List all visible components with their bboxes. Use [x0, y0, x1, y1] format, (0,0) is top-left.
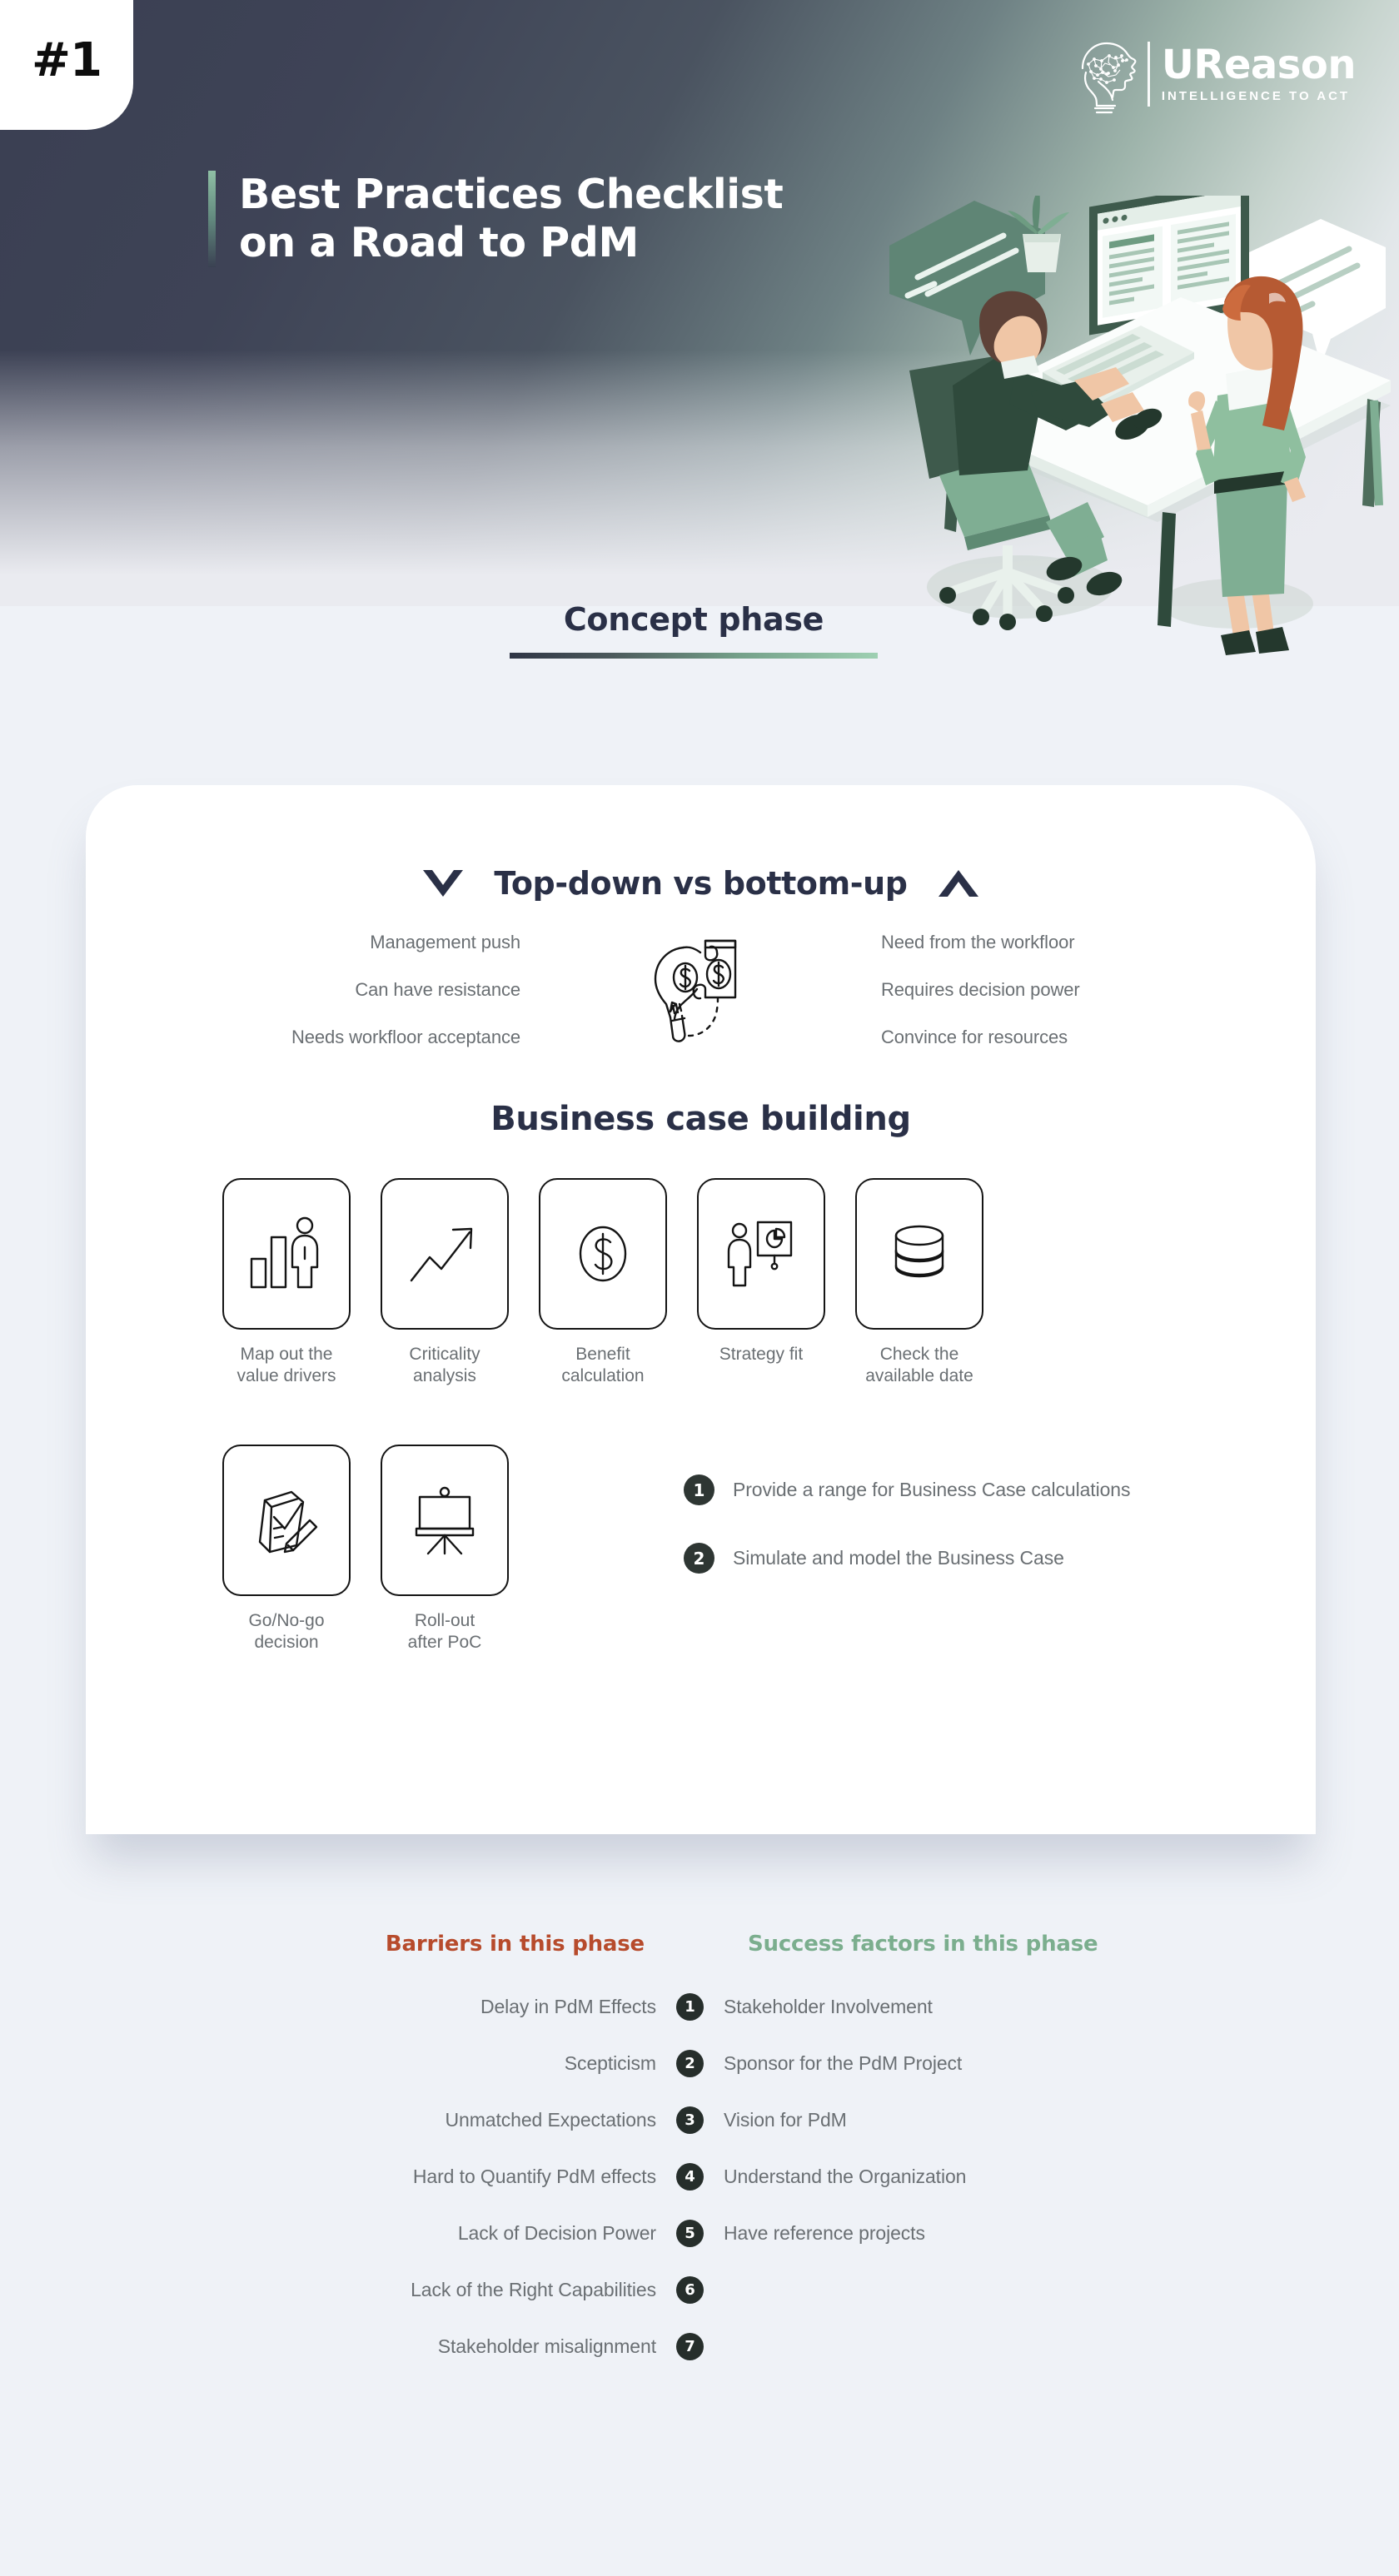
chevron-up-icon [936, 867, 981, 900]
header-title-block: Best Practices Checklist on a Road to Pd… [208, 171, 783, 267]
success-text: Have reference projects [704, 2222, 1380, 2245]
top-down-right-list: Need from the workfloor Requires decisio… [849, 932, 1316, 1048]
presenter-pie-chart-icon [697, 1178, 825, 1330]
table-row: Unmatched Expectations 3 Vision for PdM [0, 2103, 1399, 2136]
list-item: Can have resistance [355, 979, 520, 1001]
barriers-success-rows: Delay in PdM Effects 1 Stakeholder Invol… [0, 1990, 1399, 2363]
icon-label: Benefit calculation [561, 1344, 644, 1388]
concept-phase-title: Concept phase [510, 601, 878, 638]
top-down-columns: Management push Can have resistance Need… [86, 932, 1316, 1048]
number-badge: 1 [684, 1474, 714, 1505]
number-badge: 6 [676, 2276, 704, 2304]
number-badge: 4 [676, 2163, 704, 2191]
icon-label: Criticality analysis [409, 1344, 480, 1388]
number-badge: 5 [676, 2220, 704, 2247]
icon-label: Go/No-go decision [248, 1610, 324, 1654]
trending-up-arrow-icon [381, 1178, 509, 1330]
barrier-text: Stakeholder misalignment [0, 2335, 676, 2358]
business-case-title: Business case building [86, 1100, 1316, 1138]
flipchart-easel-icon [381, 1445, 509, 1596]
page-title: Best Practices Checklist on a Road to Pd… [239, 171, 783, 267]
concept-phase-rule [510, 653, 878, 659]
icon-card-check-available-date[interactable]: Check the available date [855, 1178, 983, 1388]
dollar-coin-icon [539, 1178, 667, 1330]
barrier-text: Hard to Quantify PdM effects [0, 2166, 676, 2188]
chevron-down-icon [421, 867, 466, 900]
icon-label: Check the available date [865, 1344, 973, 1388]
table-row: Hard to Quantify PdM effects 4 Understan… [0, 2160, 1399, 2193]
number-badge: 2 [684, 1543, 714, 1574]
issue-number-label: #1 [32, 33, 102, 87]
number-badge: 1 [676, 1993, 704, 2021]
checklist-pencil-icon [222, 1445, 351, 1596]
success-text: Vision for PdM [704, 2109, 1380, 2131]
business-case-notes: 1 Provide a range for Business Case calc… [684, 1474, 1130, 1574]
icon-card-go-nogo-decision[interactable]: Go/No-go decision [222, 1445, 351, 1654]
issue-number-badge: #1 [0, 0, 133, 130]
concept-phase-header: Concept phase [510, 601, 878, 659]
content-card: Top-down vs bottom-up Management push Ca… [86, 785, 1316, 1834]
logo-tagline: INTELLIGENCE TO ACT [1162, 88, 1356, 105]
number-badge: 2 [676, 2050, 704, 2077]
list-item: Management push [370, 932, 520, 953]
success-text: Understand the Organization [704, 2166, 1380, 2188]
number-badge: 3 [676, 2106, 704, 2134]
table-row: Delay in PdM Effects 1 Stakeholder Invol… [0, 1990, 1399, 2023]
list-item: 2 Simulate and model the Business Case [684, 1543, 1130, 1574]
barrier-text: Lack of Decision Power [0, 2222, 676, 2245]
barrier-text: Delay in PdM Effects [0, 1996, 676, 2018]
list-item: Convince for resources [881, 1027, 1068, 1048]
logo-divider [1148, 42, 1150, 107]
icon-label: Map out the value drivers [236, 1344, 336, 1388]
top-down-header: Top-down vs bottom-up [86, 865, 1316, 902]
top-down-left-list: Management push Can have resistance Need… [86, 932, 552, 1048]
database-stack-icon [855, 1178, 983, 1330]
list-item: 1 Provide a range for Business Case calc… [684, 1474, 1130, 1505]
bar-chart-person-icon [222, 1178, 351, 1330]
lightbulb-puzzle-dollar-icon [552, 937, 849, 1042]
number-badge: 7 [676, 2333, 704, 2360]
table-row: Scepticism 2 Sponsor for the PdM Project [0, 2046, 1399, 2080]
icon-card-criticality-analysis[interactable]: Criticality analysis [381, 1178, 509, 1388]
business-case-icon-row-1: Map out the value drivers Criticality an… [222, 1178, 983, 1388]
top-down-title: Top-down vs bottom-up [494, 865, 907, 902]
barriers-success-section: Barriers in this phase Success factors i… [0, 1932, 1399, 2363]
icon-card-map-value-drivers[interactable]: Map out the value drivers [222, 1178, 351, 1388]
icon-label: Strategy fit [719, 1344, 803, 1365]
barrier-text: Lack of the Right Capabilities [0, 2279, 676, 2301]
office-scene-illustration [858, 196, 1399, 662]
barriers-heading: Barriers in this phase [0, 1932, 696, 1957]
barrier-text: Scepticism [0, 2052, 676, 2075]
note-text: Simulate and model the Business Case [733, 1547, 1064, 1569]
ureason-logo: UReason INTELLIGENCE TO ACT [1074, 37, 1356, 112]
business-case-icon-row-2: Go/No-go decision Roll-out after PoC [222, 1445, 509, 1654]
brain-lightbulb-head-icon [1074, 37, 1144, 112]
title-accent-bar [208, 171, 216, 267]
bottom-headings: Barriers in this phase Success factors i… [0, 1932, 1399, 1957]
icon-card-benefit-calculation[interactable]: Benefit calculation [539, 1178, 667, 1388]
list-item: Need from the workfloor [881, 932, 1074, 953]
icon-card-rollout-after-poc[interactable]: Roll-out after PoC [381, 1445, 509, 1654]
icon-label: Roll-out after PoC [408, 1610, 482, 1654]
table-row: Stakeholder misalignment 7 [0, 2330, 1399, 2363]
success-heading: Success factors in this phase [696, 1932, 1399, 1957]
barrier-text: Unmatched Expectations [0, 2109, 676, 2131]
logo-brand-name: UReason [1162, 44, 1356, 86]
list-item: Needs workfloor acceptance [291, 1027, 520, 1048]
list-item: Requires decision power [881, 979, 1080, 1001]
note-text: Provide a range for Business Case calcul… [733, 1479, 1130, 1501]
icon-card-strategy-fit[interactable]: Strategy fit [697, 1178, 825, 1388]
success-text: Stakeholder Involvement [704, 1996, 1380, 2018]
table-row: Lack of the Right Capabilities 6 [0, 2273, 1399, 2306]
success-text: Sponsor for the PdM Project [704, 2052, 1380, 2075]
table-row: Lack of Decision Power 5 Have reference … [0, 2216, 1399, 2250]
